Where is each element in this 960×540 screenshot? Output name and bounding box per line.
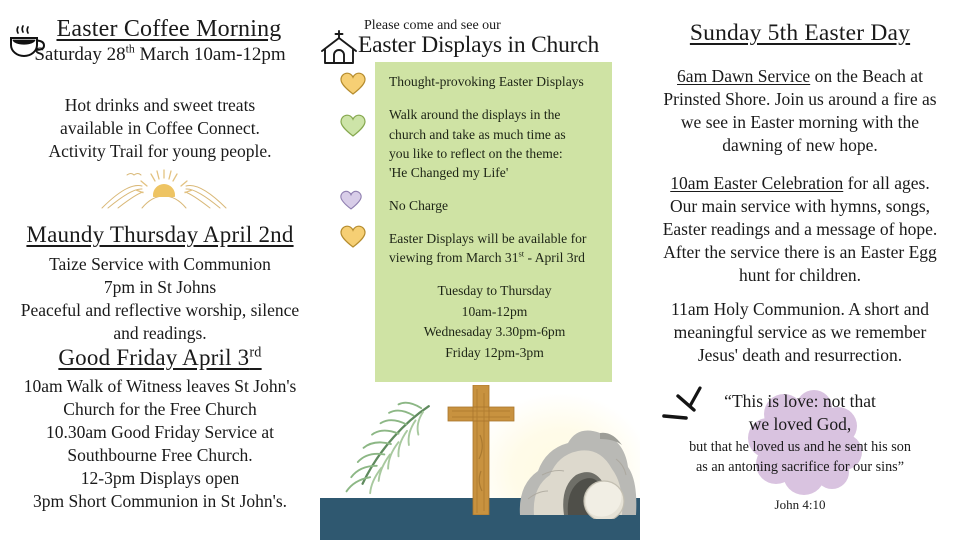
coffee-morning-date: Saturday 28th March 10am-12pm [0, 44, 320, 67]
easter-illustration [320, 384, 640, 540]
quote-small-line: but that he loved us and he sent his son [648, 438, 952, 457]
display-bullet-2: Walk around the displays in the church a… [389, 105, 600, 182]
opening-times-line: 10am-12pm [389, 302, 600, 322]
middle-column: Please come and see our Easter Displays … [320, 0, 640, 540]
opening-times-line: Tuesday to Thursday [389, 281, 600, 301]
dawn-service-line: Prinsted Shore. Join us around a fire as [646, 88, 954, 111]
heart-icon [340, 72, 366, 96]
dawn-service-line: we see in Easter morning with the [646, 111, 954, 134]
maundy-body-line: 7pm in St Johns [4, 276, 316, 299]
good-friday-body-line: 10.30am Good Friday Service at [2, 421, 318, 444]
good-friday-section: Good Friday April 3rd 10am Walk of Witne… [2, 345, 318, 513]
coffee-morning-header: Easter Coffee Morning Saturday 28th Marc… [0, 16, 320, 67]
displays-pre-title: Please come and see our [364, 18, 640, 33]
right-column: Sunday 5th Easter Day 6am Dawn Service o… [640, 0, 960, 540]
bullet-line: church and take as much time as [389, 125, 600, 144]
communion-line: meaningful service as we remember [650, 321, 950, 344]
dawn-service-first-line: 6am Dawn Service on the Beach at [646, 65, 954, 88]
maundy-body-line: Taize Service with Communion [4, 253, 316, 276]
good-friday-title-text: Good Friday April 3 [58, 345, 249, 370]
bullet-date-post: - April 3rd [524, 250, 585, 265]
empty-tomb-with-stone-icon [516, 415, 640, 524]
display-bullet-3: No Charge [389, 196, 600, 215]
dawn-service-rest: on the Beach at [810, 66, 923, 86]
communion-line: 11am Holy Communion. A short and [650, 298, 950, 321]
displays-title: Easter Displays in Church [358, 32, 640, 59]
celebration-line: hunt for children. [646, 264, 954, 287]
displays-header: Please come and see our Easter Displays … [358, 18, 640, 59]
left-column: Easter Coffee Morning Saturday 28th Marc… [0, 0, 320, 540]
maundy-thursday-body: Taize Service with Communion 7pm in St J… [4, 253, 316, 345]
coffee-body-line: Hot drinks and sweet treats [10, 94, 310, 117]
celebration-line: Our main service with hymns, songs, [646, 195, 954, 218]
easter-displays-info-box: Thought-provoking Easter Displays Walk a… [375, 62, 612, 382]
maundy-thursday-section: Maundy Thursday April 2nd Taize Service … [4, 222, 316, 345]
celebration-line: After the service there is an Easter Egg [646, 241, 954, 264]
heart-icon [340, 190, 362, 211]
coffee-cup-icon [4, 22, 48, 62]
bullet-line: you like to reflect on the theme: [389, 144, 600, 163]
quote-small-line: as an antoning sacrifice for our sins” [648, 458, 952, 477]
bullet-line: Thought-provoking Easter Displays [389, 72, 600, 91]
good-friday-body-line: Church for the Free Church [2, 398, 318, 421]
dawn-service-line: dawning of new hope. [646, 134, 954, 157]
coffee-date-ordinal: th [126, 43, 135, 56]
good-friday-body: 10am Walk of Witness leaves St John's Ch… [2, 375, 318, 514]
maundy-thursday-title: Maundy Thursday April 2nd [4, 222, 316, 248]
maundy-body-line: Peaceful and reflective worship, silence [4, 299, 316, 322]
quote-big-line: “This is love: not that [648, 390, 952, 413]
quote-reference: John 4:10 [648, 497, 952, 513]
communion-line: Jesus' death and resurrection. [650, 344, 950, 367]
easter-poster: Easter Coffee Morning Saturday 28th Marc… [0, 0, 960, 540]
easter-day-header: Sunday 5th Easter Day [650, 20, 950, 46]
good-friday-body-line: Southbourne Free Church. [2, 444, 318, 467]
bullet-line: 'He Changed my Life' [389, 163, 600, 182]
palm-branch-icon [338, 393, 442, 502]
celebration-label: 10am Easter Celebration [670, 173, 843, 193]
good-friday-ordinal: rd [249, 344, 261, 360]
coffee-date-post: March 10am-12pm [135, 44, 286, 65]
good-friday-body-line: 10am Walk of Witness leaves St John's [2, 375, 318, 398]
coffee-body-line: Activity Trail for young people. [10, 140, 310, 163]
good-friday-title: Good Friday April 3rd [2, 345, 318, 371]
wooden-cross-icon [438, 385, 524, 520]
heart-bullet-column [340, 62, 376, 382]
celebration-first-line: 10am Easter Celebration for all ages. [646, 172, 954, 195]
coffee-morning-body: Hot drinks and sweet treats available in… [10, 94, 310, 163]
display-bullet-4: Easter Displays will be available for vi… [389, 229, 600, 268]
scripture-quote-section: “This is love: not that we loved God, bu… [640, 382, 960, 540]
coffee-morning-title: Easter Coffee Morning [18, 16, 320, 43]
coffee-body-line: available in Coffee Connect. [10, 117, 310, 140]
good-friday-body-line: 3pm Short Communion in St John's. [2, 490, 318, 513]
opening-times-line: Friday 12pm-3pm [389, 343, 600, 363]
bullet-line: Walk around the displays in the [389, 105, 600, 124]
dawn-service-block: 6am Dawn Service on the Beach at Prinste… [646, 65, 954, 157]
display-bullet-1: Thought-provoking Easter Displays [389, 72, 600, 91]
easter-celebration-block: 10am Easter Celebration for all ages. Ou… [646, 172, 954, 287]
celebration-rest: for all ages. [843, 173, 930, 193]
easter-day-title: Sunday 5th Easter Day [650, 20, 950, 46]
holy-communion-block: 11am Holy Communion. A short and meaning… [650, 298, 950, 367]
opening-times-line: Wednesaday 3.30pm-6pm [389, 322, 600, 342]
quote-big-line: we loved God, [648, 413, 952, 436]
sunrise-over-mountains-icon [96, 164, 232, 212]
maundy-body-line: and readings. [4, 322, 316, 345]
dawn-service-label: 6am Dawn Service [677, 66, 810, 86]
quote-text: “This is love: not that we loved God, bu… [648, 390, 952, 513]
bullet-line: Easter Displays will be available for [389, 229, 600, 248]
church-building-icon [318, 28, 360, 66]
heart-icon [340, 225, 366, 249]
coffee-date-pre: Saturday 28 [34, 44, 125, 65]
good-friday-body-line: 12-3pm Displays open [2, 467, 318, 490]
bullet-date-pre: viewing from March 31 [389, 250, 519, 265]
bullet-line: No Charge [389, 196, 600, 215]
celebration-line: Easter readings and a message of hope. [646, 218, 954, 241]
heart-icon [340, 114, 366, 138]
opening-times: Tuesday to Thursday 10am-12pm Wednesaday… [389, 281, 600, 363]
bullet-line: viewing from March 31st - April 3rd [389, 248, 600, 267]
